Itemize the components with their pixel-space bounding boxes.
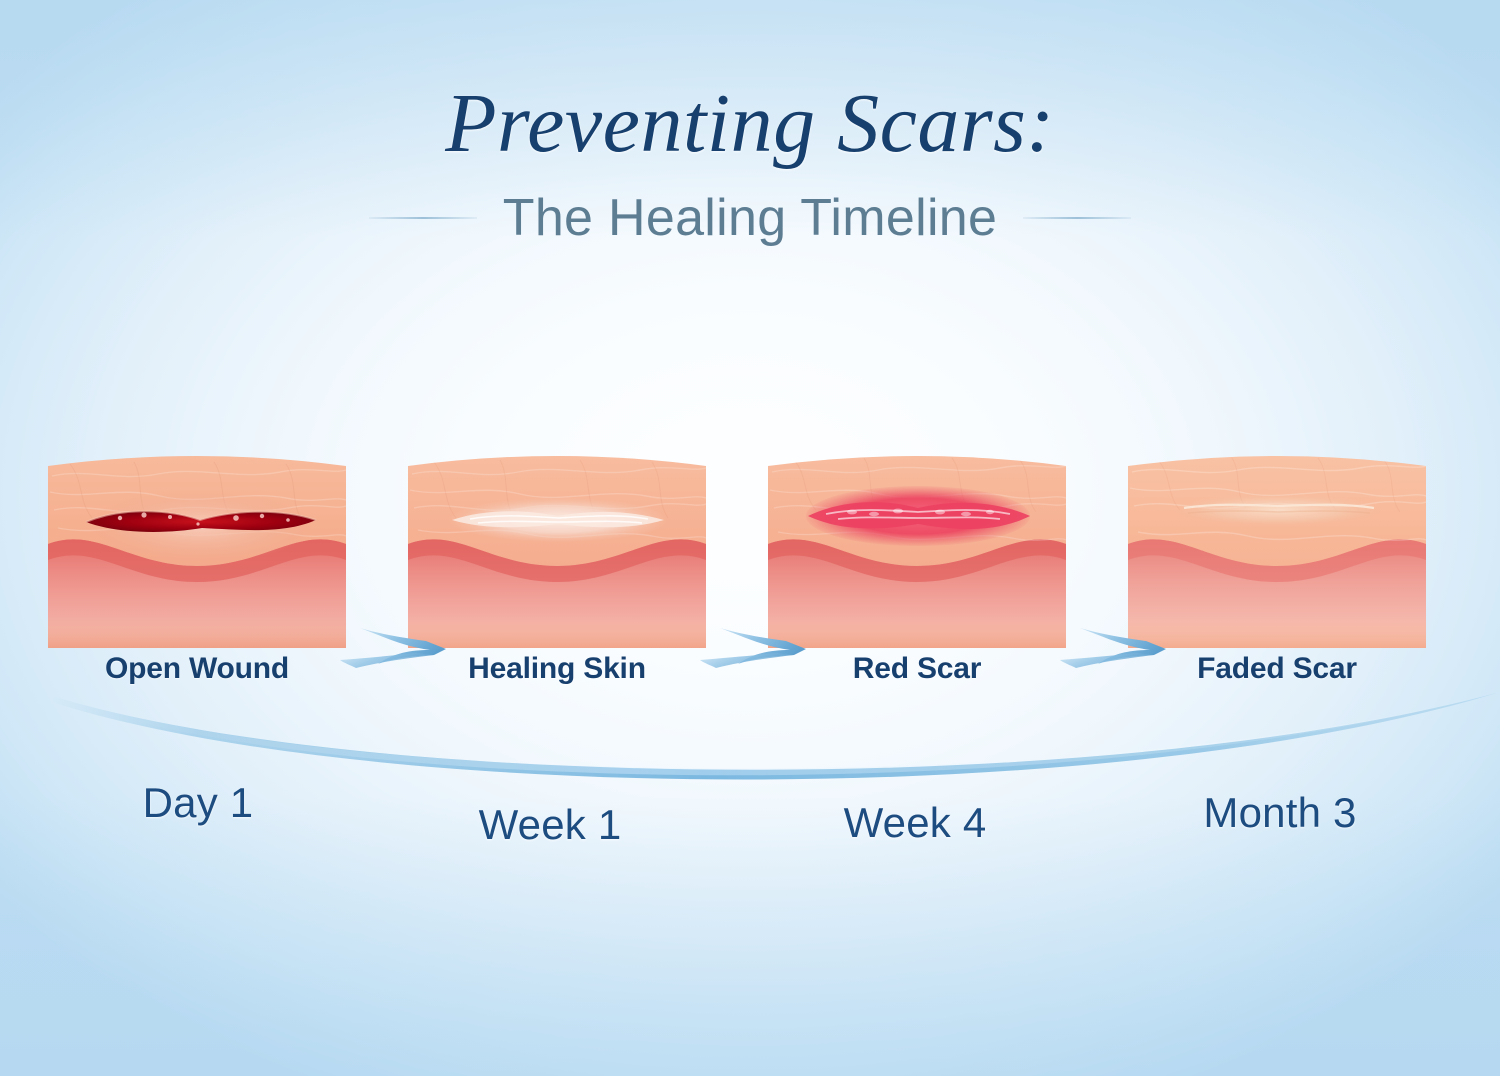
time-label-day-1: Day 1 xyxy=(48,779,348,827)
skin-cross-section-open-wound xyxy=(48,448,346,648)
swoosh-arrow-right-icon xyxy=(1058,606,1178,686)
swoosh-arrow-right-icon-3 xyxy=(1058,606,1178,686)
page-subtitle: The Healing Timeline xyxy=(503,188,997,248)
swoosh-arrow-right-icon xyxy=(338,606,458,686)
time-label-month-3: Month 3 xyxy=(1130,789,1430,837)
swoosh-arrow-right-icon-1 xyxy=(338,606,458,686)
stage-label-open-wound: Open Wound xyxy=(48,652,346,686)
title-block: Preventing Scars: The Healing Timeline xyxy=(0,82,1500,248)
page-title: Preventing Scars: xyxy=(0,82,1500,166)
time-label-week-1: Week 1 xyxy=(400,801,700,849)
swoosh-arrow-right-icon-2 xyxy=(698,606,818,686)
time-label-week-4: Week 4 xyxy=(765,799,1065,847)
swoosh-arrow-right-icon xyxy=(698,606,818,686)
stage-panel-open-wound xyxy=(48,448,346,648)
subtitle-rule-right xyxy=(1023,217,1131,219)
infographic-canvas: Preventing Scars: The Healing Timeline xyxy=(0,0,1500,1076)
subtitle-row: The Healing Timeline xyxy=(0,188,1500,248)
subtitle-rule-left xyxy=(369,217,477,219)
